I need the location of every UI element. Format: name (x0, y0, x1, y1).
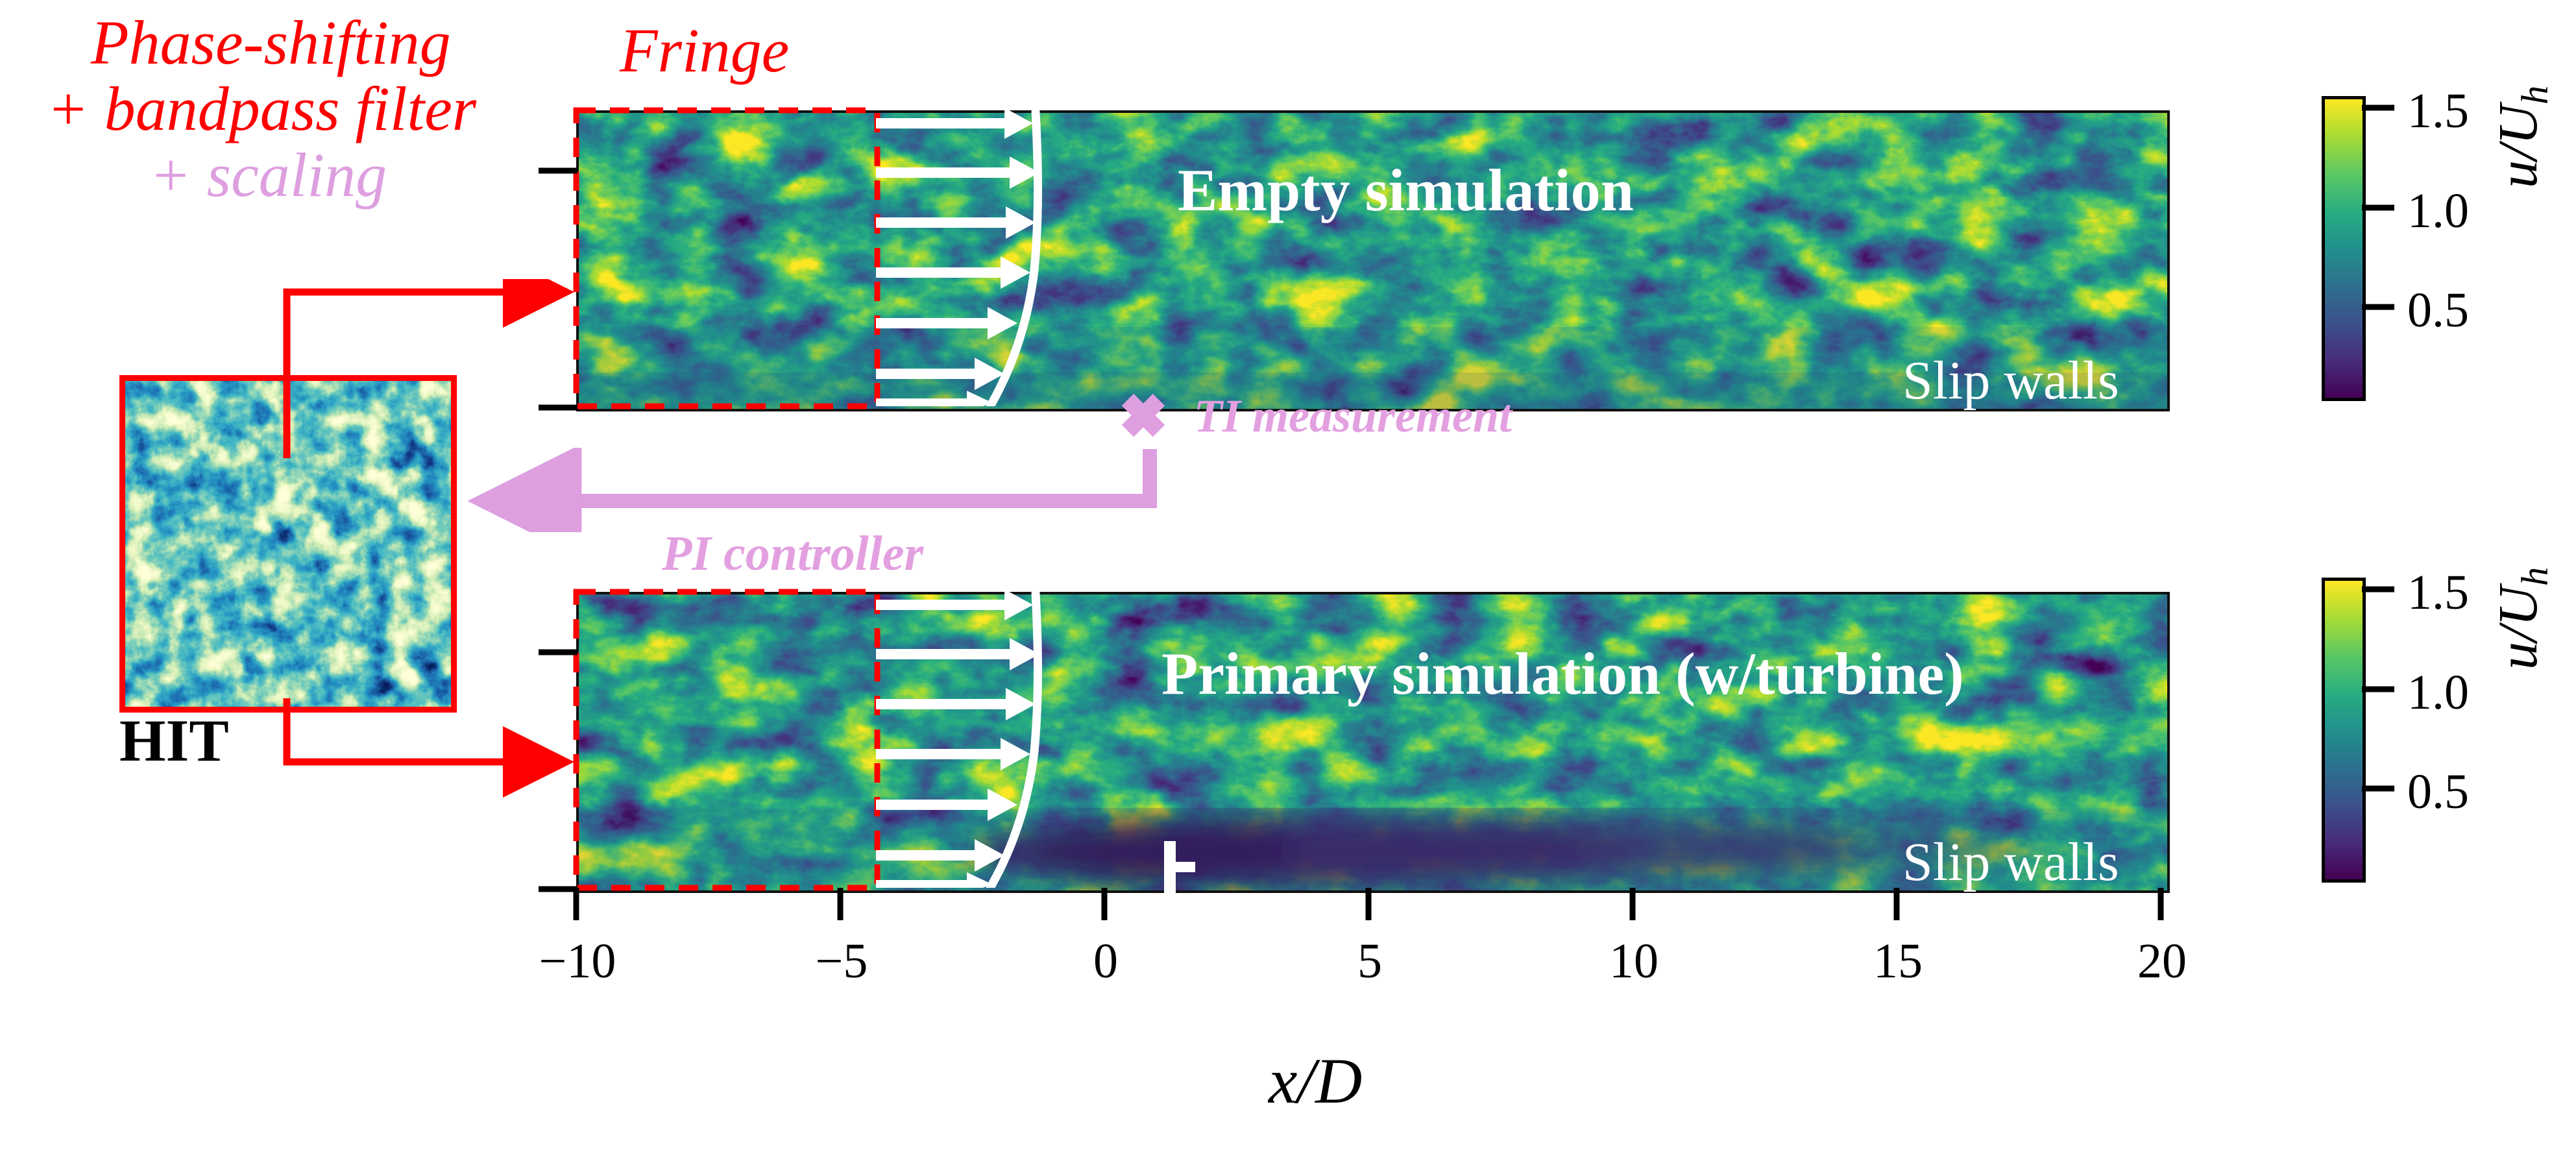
colorbar-top-label: u/Uh (2485, 86, 2556, 188)
xtick-label-3: 5 (1315, 933, 1425, 990)
red-connector-bottom (273, 694, 610, 798)
ti-measurement-label: TI measurement (1194, 389, 1512, 443)
colorbar-top (2322, 96, 2366, 401)
x-axis (571, 887, 2174, 938)
inflow-profile-top (872, 110, 1106, 406)
colorbar-bottom-tick-0.5: 0.5 (2407, 764, 2469, 820)
colorbar-bottom-gradient (2325, 581, 2363, 879)
process-label-line-2: + bandpass filter (47, 73, 476, 145)
xtick-label-5: 15 (1843, 933, 1953, 990)
xtick-label-4: 10 (1579, 933, 1689, 990)
process-label-line-3: + scaling (149, 139, 387, 211)
red-connector-top (273, 279, 610, 461)
pi-controller-arrow (448, 448, 1174, 532)
panel-primary-slip-walls: Slip walls (1902, 831, 2119, 894)
colorbar-bottom (2322, 578, 2366, 883)
pi-controller-label: PI controller (662, 526, 923, 582)
colorbar-bottom-label: u/Uh (2485, 567, 2556, 670)
xtick-label-6: 20 (2107, 933, 2217, 990)
colorbar-top-ticks (2362, 91, 2401, 402)
colorbar-bottom-tick-1.5: 1.5 (2407, 565, 2469, 621)
panel-empty-slip-walls: Slip walls (1902, 349, 2119, 412)
panel-empty-title: Empty simulation (1178, 156, 1634, 225)
xtick-label-2: 0 (1051, 933, 1161, 990)
inflow-profile-bottom (872, 592, 1106, 888)
x-axis-label-text: x/D (1269, 1045, 1362, 1117)
figure-root: Empty simulation Slip walls TI measureme… (0, 0, 2576, 1174)
fringe-label: Fringe (620, 14, 789, 86)
colorbar-top-tick-1.5: 1.5 (2407, 83, 2469, 140)
fringe-box-bottom (571, 587, 882, 893)
panel-primary-title: Primary simulation (w/turbine) (1161, 639, 1964, 708)
colorbar-top-tick-1.0: 1.0 (2407, 183, 2469, 239)
x-axis-label: x/D (1269, 1044, 1362, 1118)
colorbar-top-tick-0.5: 0.5 (2407, 282, 2469, 339)
process-label-line-1: Phase-shifting (91, 6, 451, 79)
xtick-label-0: −10 (522, 933, 633, 990)
colorbar-top-gradient (2325, 99, 2363, 398)
colorbar-bottom-tick-1.0: 1.0 (2407, 665, 2469, 721)
hit-label: HIT (119, 706, 229, 775)
ti-measurement-cross-icon (1117, 389, 1169, 441)
colorbar-bottom-ticks (2362, 572, 2401, 884)
colorbar-top-label-text: u/Uh (2486, 86, 2549, 188)
colorbar-bottom-label-text: u/Uh (2486, 567, 2549, 670)
xtick-label-1: −5 (786, 933, 897, 990)
fringe-box-top (571, 105, 882, 411)
